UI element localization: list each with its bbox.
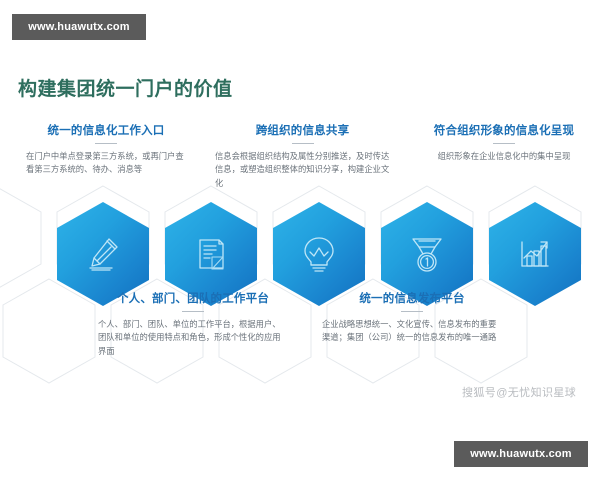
pencil-icon <box>81 232 125 276</box>
heading-divider <box>493 143 515 144</box>
heading-divider <box>292 143 314 144</box>
block-body: 企业战略思想统一、文化宣传、信息发布的重要渠道；集团（公司）统一的信息发布的唯一… <box>322 318 502 345</box>
watermark-top-url: www.huawutx.com <box>12 14 146 40</box>
medal-icon <box>405 232 449 276</box>
block-body: 个人、部门、团队、单位的工作平台，根据用户、团队和单位的使用特点和角色，形成个性… <box>98 318 288 358</box>
text-block-cross-org-sharing: 跨组织的信息共享 信息会根据组织结构及属性分别推送，及时传达信息，或塑造组织整体… <box>215 122 390 190</box>
block-heading: 跨组织的信息共享 <box>215 122 390 138</box>
heading-divider <box>95 143 117 144</box>
slide-canvas: www.huawutx.com 构建集团统一门户的价值 统一的信息化工作入口 在… <box>0 0 600 480</box>
document-icon <box>189 232 233 276</box>
watermark-bottom-url: www.huawutx.com <box>454 441 588 467</box>
page-title: 构建集团统一门户的价值 <box>18 74 233 101</box>
block-heading: 符合组织形象的信息化呈现 <box>418 122 590 138</box>
block-body: 在门户中单点登录第三方系统，或再门户查看第三方系统的、待办、消息等 <box>26 150 186 177</box>
lightbulb-icon <box>297 232 341 276</box>
text-block-org-image: 符合组织形象的信息化呈现 组织形象在企业信息化中的集中呈现 <box>418 122 590 163</box>
heading-divider <box>401 311 423 312</box>
block-heading: 统一的信息化工作入口 <box>26 122 186 138</box>
block-heading: 统一的信息发布平台 <box>322 290 502 306</box>
growth-chart-icon <box>513 232 557 276</box>
watermark-sohu: 搜狐号@无忧知识星球 <box>462 384 576 400</box>
text-block-work-platform: 个人、部门、团队的工作平台 个人、部门、团队、单位的工作平台，根据用户、团队和单… <box>98 290 288 358</box>
text-block-publish-platform: 统一的信息发布平台 企业战略思想统一、文化宣传、信息发布的重要渠道；集团（公司）… <box>322 290 502 345</box>
block-heading: 个人、部门、团队的工作平台 <box>98 290 288 306</box>
text-block-unified-entry: 统一的信息化工作入口 在门户中单点登录第三方系统，或再门户查看第三方系统的、待办… <box>26 122 186 177</box>
block-body: 信息会根据组织结构及属性分别推送，及时传达信息，或塑造组织整体的知识分享，构建企… <box>215 150 390 190</box>
heading-divider <box>182 311 204 312</box>
block-body: 组织形象在企业信息化中的集中呈现 <box>418 150 590 163</box>
